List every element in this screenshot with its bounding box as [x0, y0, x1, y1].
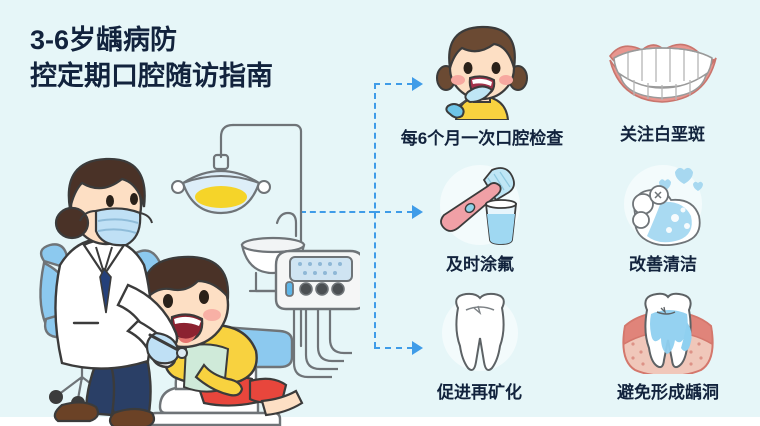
dentist-examining-child-illustration: .ol{stroke:#6f7478;stroke-width:2.2;fill… [0, 105, 360, 426]
item-remineralize[interactable]: 促进再矿化 [392, 292, 567, 403]
item-white-spot[interactable]: 关注白垩斑 [580, 30, 745, 145]
item-fluoride[interactable]: 及时涂氟 [400, 164, 560, 275]
toothbrush-and-cup-icon [430, 164, 530, 246]
item-checkup-label: 每6个月一次口腔检查 [372, 124, 592, 149]
teeth-smile-icon [604, 30, 722, 116]
poster-canvas: 3-6岁龋病防 控定期口腔随访指南 .ol{stroke:#6f7478;str… [0, 0, 760, 426]
tooth-bubbles-icon [613, 162, 713, 246]
page-title: 3-6岁龋病防 控定期口腔随访指南 [30, 22, 273, 94]
tooth-gums-fluoride-icon [613, 292, 723, 374]
girl-brushing-teeth-icon [432, 22, 532, 120]
item-white-spot-label: 关注白垩斑 [580, 120, 745, 145]
item-cavity[interactable]: 避免形成龋洞 [578, 292, 758, 403]
item-checkup[interactable]: 每6个月一次口腔检查 [372, 22, 592, 149]
item-fluoride-label: 及时涂氟 [400, 250, 560, 275]
item-cleaning[interactable]: 改善清洁 [588, 162, 738, 275]
item-cavity-label: 避免形成龋洞 [578, 378, 758, 403]
item-cleaning-label: 改善清洁 [588, 250, 738, 275]
healthy-tooth-icon [430, 292, 530, 374]
item-remineralize-label: 促进再矿化 [392, 378, 567, 403]
